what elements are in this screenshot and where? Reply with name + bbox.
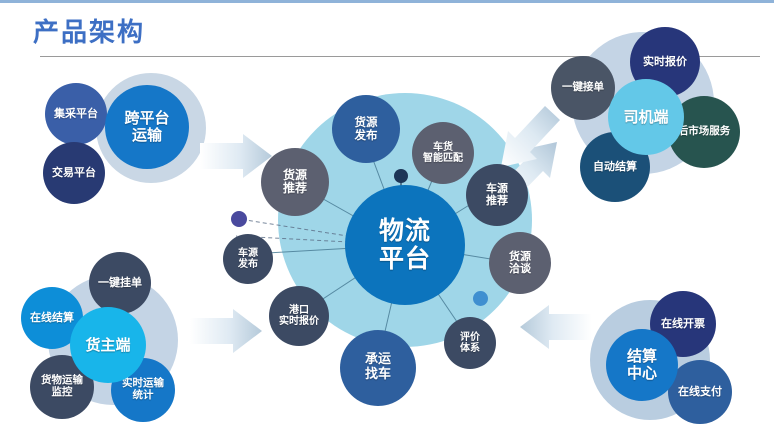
- node-one-click-list[interactable]: 一键挂单: [89, 252, 151, 314]
- satellite-truck-recommend-label: 车源 推荐: [486, 183, 508, 208]
- cluster-center-shipper[interactable]: 货主端: [70, 307, 146, 383]
- satellite-truck-publish[interactable]: 车源 发布: [223, 234, 273, 284]
- cluster-center-driver-label: 司机端: [623, 109, 668, 126]
- marker-purple-dot: [231, 211, 247, 227]
- node-cargo-monitor-label: 货物运输 监控: [41, 375, 83, 399]
- node-trading-platform[interactable]: 交易平台: [43, 142, 105, 204]
- satellite-truck-publish-label: 车源 发布: [238, 248, 258, 270]
- satellite-cargo-recommend-label: 货源 推荐: [283, 169, 307, 196]
- node-realtime-stats-label: 实时运输 统计: [122, 378, 164, 402]
- page-title: 产品架构: [33, 18, 145, 48]
- cluster-center-cross-platform[interactable]: 跨平台 运输: [105, 85, 189, 169]
- node-one-click-accept[interactable]: 一键接单: [551, 56, 615, 120]
- node-procurement-platform-label: 集采平台: [54, 108, 98, 120]
- node-online-settlement-label: 在线结算: [30, 312, 74, 324]
- marker-blue-dot: [473, 291, 488, 306]
- node-auto-settlement-label: 自动结算: [593, 161, 637, 173]
- satellite-cargo-publish-label: 货源 发布: [355, 116, 378, 142]
- cluster-center-cross-platform-label: 跨平台 运输: [124, 110, 169, 144]
- node-one-click-accept-label: 一键接单: [562, 82, 604, 94]
- node-online-invoice-label: 在线开票: [661, 318, 705, 330]
- cluster-center-shipper-label: 货主端: [85, 337, 130, 354]
- satellite-port-quote[interactable]: 港口 实时报价: [269, 286, 329, 346]
- satellite-rating-system[interactable]: 评价 体系: [444, 317, 496, 369]
- satellite-port-quote-label: 港口 实时报价: [279, 305, 319, 327]
- satellite-find-truck[interactable]: 承运 找车: [340, 330, 416, 406]
- cluster-center-settlement[interactable]: 结算 中心: [606, 329, 678, 401]
- logistics-platform-hub[interactable]: 物流 平台: [345, 185, 465, 305]
- diagram-canvas: 产品架构: [0, 0, 774, 437]
- node-trading-platform-label: 交易平台: [52, 167, 96, 179]
- satellite-find-truck-label: 承运 找车: [365, 353, 391, 382]
- cluster-center-settlement-label: 结算 中心: [627, 348, 657, 382]
- satellite-cargo-negotiate-label: 货源 洽谈: [509, 251, 531, 276]
- satellite-cargo-recommend[interactable]: 货源 推荐: [261, 148, 329, 216]
- satellite-rating-system-label: 评价 体系: [460, 332, 480, 354]
- node-online-payment-label: 在线支付: [678, 386, 722, 398]
- satellite-truck-recommend[interactable]: 车源 推荐: [466, 164, 528, 226]
- satellite-cargo-publish[interactable]: 货源 发布: [332, 95, 400, 163]
- satellite-smart-match-label: 车货 智能匹配: [423, 142, 463, 164]
- top-accent-bar: [0, 0, 774, 3]
- node-aftermarket-service-label: 后市场服务: [678, 126, 731, 138]
- logistics-platform-hub-label: 物流 平台: [379, 217, 431, 273]
- arrow-shipper-to-hub: [190, 309, 262, 353]
- satellite-smart-match[interactable]: 车货 智能匹配: [412, 122, 474, 184]
- node-one-click-list-label: 一键挂单: [98, 277, 142, 289]
- node-realtime-quote-label: 实时报价: [643, 56, 687, 68]
- cluster-center-driver[interactable]: 司机端: [608, 79, 684, 155]
- satellite-cargo-negotiate[interactable]: 货源 洽谈: [489, 232, 551, 294]
- arrow-cross-platform-to-hub: [200, 134, 272, 178]
- node-procurement-platform[interactable]: 集采平台: [45, 83, 107, 145]
- arrow-settlement-to-hub: [520, 305, 592, 349]
- marker-navy-dot: [394, 169, 408, 183]
